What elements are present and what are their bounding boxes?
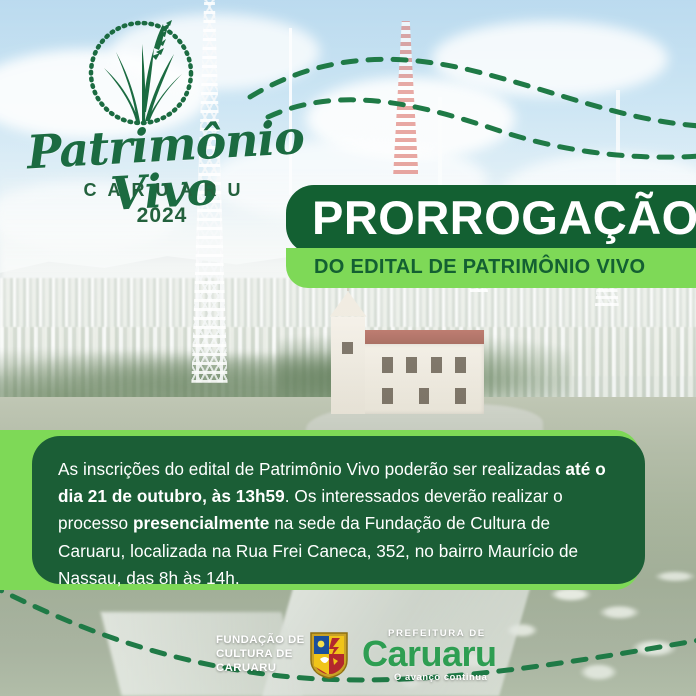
body-bold-presencialmente: presencialmente [133, 513, 269, 533]
prefeitura-slogan: O avanço continua [394, 672, 497, 682]
prefeitura-name: Caruaru [362, 638, 497, 670]
agave-circle-icon [82, 14, 200, 132]
fundacao-line-2: CULTURA DE [216, 648, 305, 662]
prefeitura-caruaru-logo: PREFEITURA DE Caruaru O avanço continua [362, 628, 497, 682]
headline-sub-bar: DO EDITAL DE PATRIMÔNIO VIVO [286, 248, 696, 288]
body-paragraph: As inscrições do edital de Patrimônio Vi… [58, 456, 619, 592]
headline-sub-text: DO EDITAL DE PATRIMÔNIO VIVO [314, 256, 696, 279]
fundacao-line-3: CARUARU [216, 662, 305, 676]
headline-main-text: PRORROGAÇÃO [312, 194, 696, 243]
headline-banner: PRORROGAÇÃO DO EDITAL DE PATRIMÔNIO VIVO [286, 185, 696, 288]
body-card: As inscrições do edital de Patrimônio Vi… [32, 436, 645, 584]
headline-main-bar: PRORROGAÇÃO [286, 185, 696, 254]
poster: Patrimônio Vivo CARUARU 2024 PRORROGAÇÃO… [0, 0, 696, 696]
fundacao-cultura-logo: FUNDAÇÃO DE CULTURA DE CARUARU [216, 634, 305, 676]
fundacao-line-1: FUNDAÇÃO DE [216, 634, 305, 648]
logo-city: CARUARU [28, 180, 296, 201]
footer: FUNDAÇÃO DE CULTURA DE CARUARU PREFEITUR… [0, 628, 696, 690]
body-seg-1: As inscrições do edital de Patrimônio Vi… [58, 459, 565, 479]
patrimonio-vivo-logo: Patrimônio Vivo CARUARU 2024 [28, 14, 296, 228]
logo-year: 2024 [28, 204, 296, 228]
coat-of-arms-icon [308, 630, 350, 680]
